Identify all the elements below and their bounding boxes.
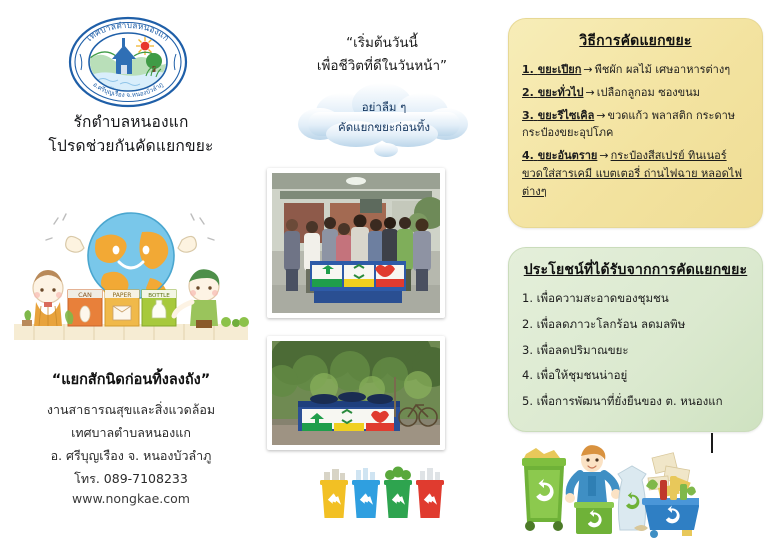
benefit-item-1: 1. เพื่อความสะอาดของชุมชน xyxy=(522,290,749,308)
benefit-item-3: 3. เพื่อลดปริมาณขยะ xyxy=(522,342,749,360)
method-item-2: 2. ขยะทั่วไป→เปลือกลูกอม ซองขนม xyxy=(522,84,749,102)
contact-website[interactable]: www.nongkae.com xyxy=(0,491,262,506)
photo-community-group xyxy=(267,168,445,318)
center-column: “เริ่มต้นวันนี้ เพื่อชีวิตที่ดีในวันหน้า… xyxy=(262,0,502,551)
method-1-desc: พืชผัก ผลไม้ เศษอาหารต่างๆ xyxy=(595,63,731,76)
earth-children-illustration: CAN PAPER BOTTLE xyxy=(8,196,254,361)
municipal-logo: เทศบาลตำบลหนองแก อ.ศรีบุญเรือง จ.หนองบัว… xyxy=(62,14,194,110)
recycling-bins-illustration xyxy=(314,466,444,524)
cloud-line-1: อย่าลืม ๆ xyxy=(286,98,482,118)
methods-card: วิธีการคัดแยกขยะ 1. ขยะเปียก→พืชผัก ผลไม… xyxy=(508,18,763,228)
method-1-no: 1. xyxy=(522,63,534,76)
method-2-no: 2. xyxy=(522,86,534,99)
method-1-key: ขยะเปียก xyxy=(538,63,582,76)
method-3-no: 3. xyxy=(522,109,534,122)
slogan-block: รักตำบลหนองแก โปรดช่วยกันคัดแยกขยะ xyxy=(0,110,262,158)
contact-line-2: เทศบาลตำบลหนองแก xyxy=(0,421,262,444)
methods-title: วิธีการคัดแยกขยะ xyxy=(522,30,749,52)
method-item-4: 4. ขยะอันตราย→กระป๋องสีสเปรย์ ทินเนอร์ ข… xyxy=(522,147,749,200)
method-4-no: 4. xyxy=(522,149,534,162)
contact-line-3: อ. ศรีบุญเรือง จ. หนองบัวลำภู xyxy=(0,444,262,467)
cloud-text: อย่าลืม ๆ คัดแยกขยะก่อนทิ้ง xyxy=(286,98,482,137)
photo-community-group-image xyxy=(272,173,440,313)
cloud-line-2: คัดแยกขยะก่อนทิ้ง xyxy=(286,118,482,138)
method-2-arrow: → xyxy=(584,86,597,99)
benefit-item-4: 4. เพื่อให้ชุมชนน่าอยู่ xyxy=(522,367,749,385)
slogan-line-2: โปรดช่วยกันคัดแยกขยะ xyxy=(0,134,262,158)
contact-highlight: “แยกสักนิดก่อนทิ้งลงถัง” xyxy=(0,368,262,391)
headline-block: “เริ่มต้นวันนี้ เพื่อชีวิตที่ดีในวันหน้า… xyxy=(262,32,502,78)
method-3-arrow: → xyxy=(594,109,607,122)
benefits-card: ประโยชน์ที่ได้รับจากการคัดแยกขยะ 1. เพื่… xyxy=(508,247,763,432)
method-1-arrow: → xyxy=(581,63,594,76)
photo-roadside-bins xyxy=(267,336,445,450)
municipal-seal-icon: เทศบาลตำบลหนองแก อ.ศรีบุญเรือง จ.หนองบัว… xyxy=(62,14,194,110)
method-item-3: 3. ขยะรีไซเคิล→ขวดแก้ว พลาสติก กระดาษ กร… xyxy=(522,107,749,143)
recycling-bins-icon xyxy=(314,466,444,524)
headline-line-1: “เริ่มต้นวันนี้ xyxy=(262,32,502,55)
bin-label-paper: PAPER xyxy=(113,292,132,299)
contact-phone: โทร. 089-7108233 xyxy=(0,467,262,490)
slogan-line-1: รักตำบลหนองแก xyxy=(0,110,262,134)
method-item-1: 1. ขยะเปียก→พืชผัก ผลไม้ เศษอาหารต่างๆ xyxy=(522,61,749,79)
method-2-desc: เปลือกลูกอม ซองขนม xyxy=(597,86,700,99)
contact-block: “แยกสักนิดก่อนทิ้งลงถัง” งานสาธารณสุขและ… xyxy=(0,368,262,506)
poster-page: เทศบาลตำบลหนองแก อ.ศรีบุญเรือง จ.หนองบัว… xyxy=(0,0,769,551)
cloud-callout: อย่าลืม ๆ คัดแยกขยะก่อนทิ้ง xyxy=(286,82,482,160)
earth-children-icon: CAN PAPER BOTTLE xyxy=(8,196,254,361)
benefit-item-2: 2. เพื่อลดภาวะโลกร้อน ลดมลพิษ xyxy=(522,316,749,334)
bin-label-bottle: BOTTLE xyxy=(148,293,170,299)
bin-label-can: CAN xyxy=(78,291,92,299)
contact-line-1: งานสาธารณสุขและสิ่งแวดล้อม xyxy=(0,398,262,421)
right-column: วิธีการคัดแยกขยะ 1. ขยะเปียก→พืชผัก ผลไม… xyxy=(502,0,769,551)
text-cursor-artifact xyxy=(711,433,713,453)
headline-line-2: เพื่อชีวิตที่ดีในวันหน้า” xyxy=(262,55,502,78)
photo-roadside-bins-image xyxy=(272,341,440,445)
method-3-key: ขยะรีไซเคิล xyxy=(538,109,595,122)
recycling-person-icon xyxy=(514,440,699,544)
method-2-key: ขยะทั่วไป xyxy=(538,86,584,99)
left-column: เทศบาลตำบลหนองแก อ.ศรีบุญเรือง จ.หนองบัว… xyxy=(0,0,262,551)
benefit-item-5: 5. เพื่อการพัฒนาที่ยั่งยืนของ ต. หนองแก xyxy=(522,393,749,411)
benefits-title: ประโยชน์ที่ได้รับจากการคัดแยกขยะ xyxy=(522,259,749,281)
method-4-key: ขยะอันตราย xyxy=(538,149,598,162)
recycling-person-illustration xyxy=(514,440,699,544)
method-4-arrow: → xyxy=(597,149,610,162)
